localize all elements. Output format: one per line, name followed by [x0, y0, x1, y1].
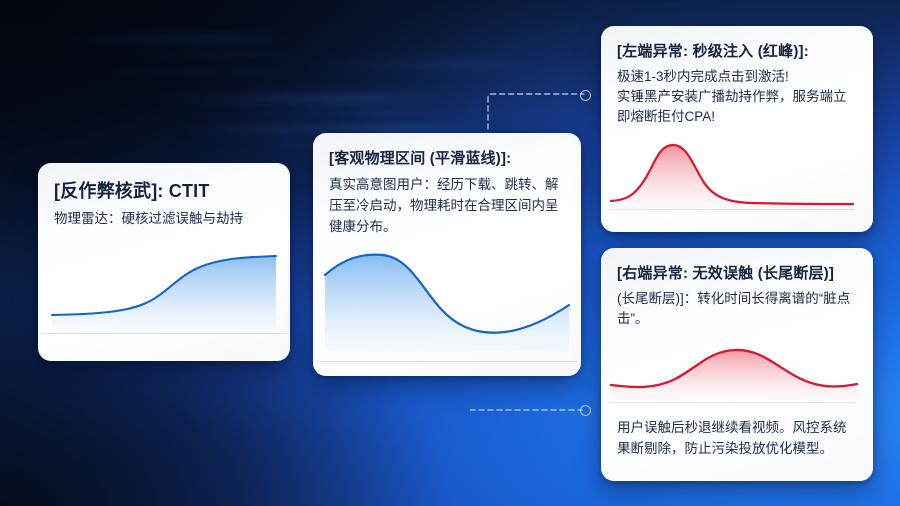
infographic-canvas: [反作弊核武]: CTIT 物理雷达：硬核过滤误触与劫持 [客观物理区间 (平滑: [0, 0, 900, 506]
chart-ctit-svg: [38, 245, 290, 337]
card-right-anomaly-body: (长尾断层)]：转化时间长得离谱的“脏点击”。: [617, 289, 857, 329]
card-right-anomaly-footer: 用户误触后秒退继续看视频。风控系统果断剔除，防止污染投放优化模型。: [601, 411, 873, 459]
chart-physical-baseline: [317, 361, 577, 362]
card-physical-title: [客观物理区间 (平滑蓝线)]:: [329, 147, 565, 168]
card-ctit-title: [反作弊核武]: CTIT: [54, 177, 274, 203]
card-right-anomaly-text-block: [右端异常: 无效误触 (长尾断层)] (长尾断层)]：转化时间长得离谱的“脏点…: [601, 248, 873, 329]
chart-right-anomaly-area: [611, 350, 857, 401]
card-ctit[interactable]: [反作弊核武]: CTIT 物理雷达：硬核过滤误触与劫持: [38, 163, 290, 361]
card-ctit-text-block: [反作弊核武]: CTIT 物理雷达：硬核过滤误触与劫持: [38, 163, 290, 229]
card-left-anomaly-text-block: [左端异常: 秒级注入 (红峰)]: 极速1-3秒内完成点击到激活! 实锤黑产安…: [601, 26, 873, 127]
chart-left-anomaly-svg: [601, 133, 873, 215]
card-physical-text-block: [客观物理区间 (平滑蓝线)]: 真实高意图用户：经历下载、跳转、解压至冷启动，…: [313, 133, 581, 237]
chart-ctit-baseline: [42, 333, 286, 334]
chart-physical-svg: [313, 247, 581, 365]
card-left-anomaly-title: [左端异常: 秒级注入 (红峰)]:: [617, 40, 857, 61]
chart-physical-wave: [313, 247, 581, 365]
chart-physical-area: [325, 255, 569, 351]
chart-ctit-curve: [38, 245, 290, 337]
connector-top-endpoint: [580, 90, 591, 101]
card-physical-interval[interactable]: [客观物理区间 (平滑蓝线)]: 真实高意图用户：经历下载、跳转、解压至冷启动，…: [313, 133, 581, 376]
card-right-anomaly[interactable]: [右端异常: 无效误触 (长尾断层)] (长尾断层)]：转化时间长得离谱的“脏点…: [601, 248, 873, 481]
card-physical-body: 真实高意图用户：经历下载、跳转、解压至冷启动，物理耗时在合理区间内呈健康分布。: [329, 174, 565, 237]
card-ctit-body: 物理雷达：硬核过滤误触与劫持: [54, 209, 274, 229]
chart-right-anomaly-hump: [601, 341, 873, 411]
chart-right-anomaly-svg: [601, 341, 873, 411]
card-left-anomaly-body: 极速1-3秒内完成点击到激活! 实锤黑产安装广播劫持作弊，服务端立即熔断拒付CP…: [617, 67, 857, 127]
connector-bottom-endpoint: [580, 405, 591, 416]
card-left-anomaly[interactable]: [左端异常: 秒级注入 (红峰)]: 极速1-3秒内完成点击到激活! 实锤黑产安…: [601, 26, 873, 232]
card-right-anomaly-title: [右端异常: 无效误触 (长尾断层)]: [617, 262, 857, 283]
chart-left-anomaly-peak: [601, 133, 873, 215]
